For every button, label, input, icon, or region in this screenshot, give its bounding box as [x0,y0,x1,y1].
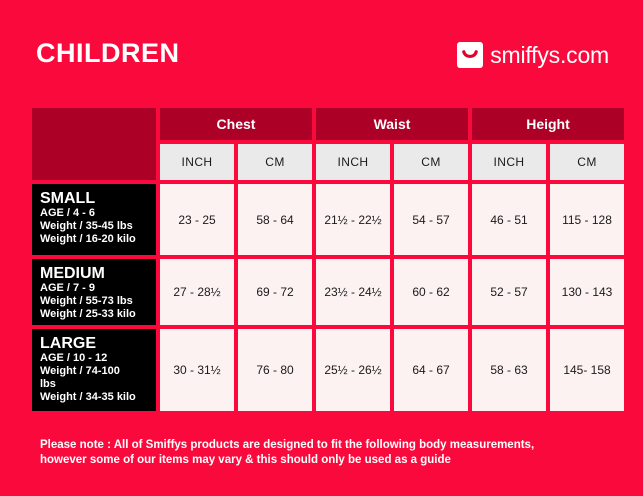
brand-name: smiffys.com [490,42,609,68]
cell-small-height-inch: 46 - 51 [472,184,546,255]
size-name: SMALL [40,190,156,207]
table-corner-cell [32,108,156,180]
table-row: LARGE AGE / 10 - 12 Weight / 74-100 lbs … [32,329,612,411]
size-detail-weight-kilo: Weight / 16-20 kilo [40,233,156,246]
unit-header-height-inch: INCH [472,144,546,180]
size-label-medium: MEDIUM AGE / 7 - 9 Weight / 55-73 lbs We… [32,259,156,325]
cell-medium-waist-inch: 23½ - 24½ [316,259,390,325]
cell-small-chest-cm: 58 - 64 [238,184,312,255]
disclaimer-note: Please note : All of Smiffys products ar… [40,438,610,468]
unit-header-row: INCH CM INCH CM INCH CM [160,144,624,180]
cell-small-height-cm: 115 - 128 [550,184,624,255]
group-header-height: Height [472,108,624,140]
cell-large-height-cm: 145- 158 [550,329,624,411]
page-title: CHILDREN [36,37,180,69]
smile-check-icon [457,42,483,68]
cell-medium-chest-inch: 27 - 28½ [160,259,234,325]
size-detail-weight-lbs: Weight / 55-73 lbs [40,295,156,308]
size-name: LARGE [40,335,156,352]
cell-large-chest-cm: 76 - 80 [238,329,312,411]
disclaimer-line-2: however some of our items may vary & thi… [40,453,610,468]
unit-header-waist-cm: CM [394,144,468,180]
cell-small-chest-inch: 23 - 25 [160,184,234,255]
cell-large-waist-inch: 25½ - 26½ [316,329,390,411]
cell-large-waist-cm: 64 - 67 [394,329,468,411]
size-detail-weight-lbs: Weight / 35-45 lbs [40,220,156,233]
unit-header-chest-cm: CM [238,144,312,180]
cell-medium-waist-cm: 60 - 62 [394,259,468,325]
table-header: Chest Waist Height INCH CM INCH CM [32,108,612,180]
unit-header-waist-inch: INCH [316,144,390,180]
group-header-chest: Chest [160,108,312,140]
unit-header-height-cm: CM [550,144,624,180]
table-row: MEDIUM AGE / 7 - 9 Weight / 55-73 lbs We… [32,259,612,325]
cell-medium-height-inch: 52 - 57 [472,259,546,325]
size-detail-weight-kilo: Weight / 25-33 kilo [40,308,156,321]
size-name: MEDIUM [40,265,156,282]
cell-large-chest-inch: 30 - 31½ [160,329,234,411]
cell-small-waist-cm: 54 - 57 [394,184,468,255]
cell-small-waist-inch: 21½ - 22½ [316,184,390,255]
group-header-row: Chest Waist Height [160,108,624,140]
size-detail-age: AGE / 4 - 6 [40,207,156,220]
group-header-waist: Waist [316,108,468,140]
brand-logo: smiffys.com [457,42,609,68]
cell-large-height-inch: 58 - 63 [472,329,546,411]
size-table: Chest Waist Height INCH CM INCH CM [32,108,612,411]
size-detail-age: AGE / 7 - 9 [40,282,156,295]
unit-header-chest-inch: INCH [160,144,234,180]
size-label-large: LARGE AGE / 10 - 12 Weight / 74-100 lbs … [32,329,156,411]
size-detail-weight-lbs: Weight / 74-100 [40,365,156,378]
size-detail-age: AGE / 10 - 12 [40,352,156,365]
chart-header: CHILDREN smiffys.com [0,0,643,104]
table-row: SMALL AGE / 4 - 6 Weight / 35-45 lbs Wei… [32,184,612,255]
size-label-small: SMALL AGE / 4 - 6 Weight / 35-45 lbs Wei… [32,184,156,255]
size-chart: CHILDREN smiffys.com Chest Wai [0,0,643,496]
size-detail-weight-kilo: Weight / 34-35 kilo [40,391,156,404]
disclaimer-line-1: Please note : All of Smiffys products ar… [40,438,610,453]
cell-medium-height-cm: 130 - 143 [550,259,624,325]
size-detail-weight-lbs-cont: lbs [40,378,156,391]
cell-medium-chest-cm: 69 - 72 [238,259,312,325]
